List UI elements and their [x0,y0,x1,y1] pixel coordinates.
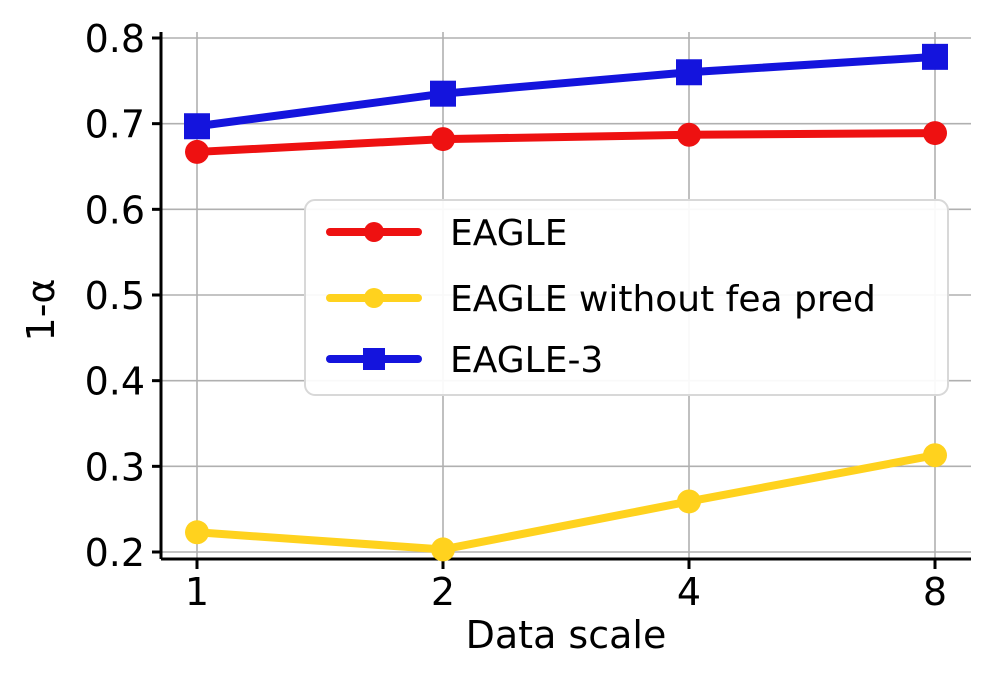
x-tick-label-4: 4 [677,570,701,614]
y-tick-label-0.2: 0.2 [85,531,145,575]
data-point-marker [431,127,455,151]
x-tick-label-1: 1 [185,570,209,614]
y-tick-label-0.3: 0.3 [85,445,145,489]
data-point-marker [184,113,210,139]
y-tick-label-0.6: 0.6 [85,188,145,232]
legend-swatch-marker [364,288,384,308]
legend-swatch-marker [364,222,384,242]
data-point-marker [431,537,455,561]
data-point-marker [923,443,947,467]
data-point-marker [677,489,701,513]
data-point-marker [185,140,209,164]
line-chart: 0.20.30.40.50.60.70.8 1248 Data scale 1-… [0,0,1000,700]
y-tick-label-0.7: 0.7 [85,103,145,147]
chart-figure: 0.20.30.40.50.60.70.8 1248 Data scale 1-… [0,0,1000,700]
data-point-marker [677,123,701,147]
chart-legend: EAGLEEAGLE without fea predEAGLE-3 [305,200,948,395]
data-point-marker [185,520,209,544]
x-tick-label-2: 2 [431,570,455,614]
legend-item-label: EAGLE-3 [450,340,603,381]
data-point-marker [430,81,456,107]
y-axis-label: 1-α [19,279,63,342]
legend-item-label: EAGLE without fea pred [450,279,876,320]
x-axis-label: Data scale [466,613,667,657]
data-point-marker [923,121,947,145]
data-point-marker [676,59,702,85]
y-tick-label-0.5: 0.5 [85,274,145,318]
data-point-marker [922,44,948,70]
y-tick-label-0.4: 0.4 [85,360,145,404]
legend-swatch-marker [363,348,385,370]
legend-item-label: EAGLE [450,213,567,254]
x-tick-label-8: 8 [923,570,947,614]
y-tick-label-0.8: 0.8 [85,17,145,61]
